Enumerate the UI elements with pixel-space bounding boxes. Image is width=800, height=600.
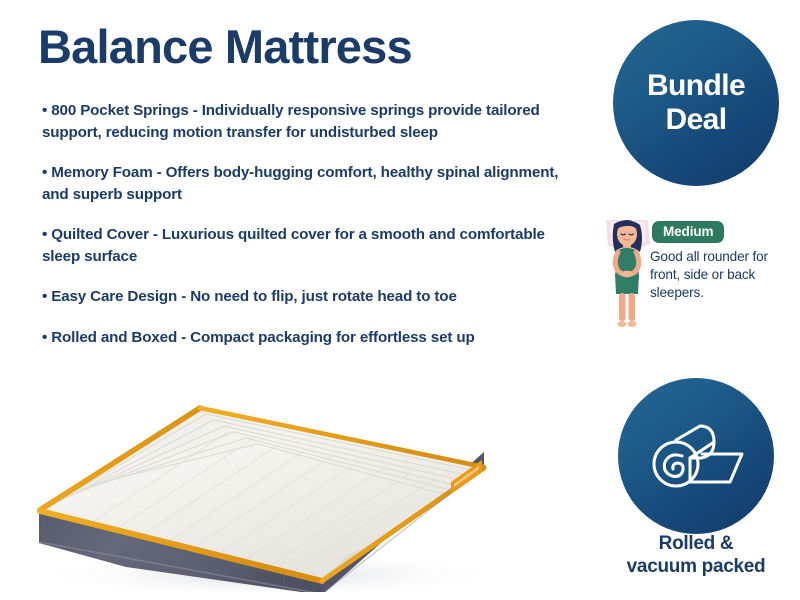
bundle-deal-badge: Bundle Deal [613, 20, 779, 186]
feature-item: • Easy Care Design - No need to flip, ju… [42, 286, 582, 308]
feature-item: • 800 Pocket Springs - Individually resp… [42, 100, 582, 143]
feature-item: • Quilted Cover - Luxurious quilted cove… [42, 224, 582, 267]
woman-sleeping-icon [600, 214, 654, 332]
firmness-description: Good all rounder for front, side or back… [650, 248, 796, 303]
feature-item: • Memory Foam - Offers body-hugging comf… [42, 162, 582, 205]
bundle-deal-line-2: Deal [666, 103, 727, 137]
rolled-caption-line-1: Rolled & [596, 532, 796, 555]
firmness-block: Medium Good all rounder for front, side … [600, 214, 796, 332]
rolled-packed-caption: Rolled & vacuum packed [596, 532, 796, 578]
rolled-mattress-icon [644, 404, 748, 508]
feature-list: • 800 Pocket Springs - Individually resp… [42, 100, 582, 349]
bundle-deal-line-1: Bundle [647, 69, 745, 103]
feature-item: • Rolled and Boxed - Compact packaging f… [42, 327, 582, 349]
firmness-level-badge: Medium [652, 221, 724, 243]
page-title: Balance Mattress [38, 22, 412, 73]
rolled-caption-line-2: vacuum packed [596, 555, 796, 578]
mattress-product-image [14, 368, 524, 592]
rolled-packed-badge [618, 378, 774, 534]
